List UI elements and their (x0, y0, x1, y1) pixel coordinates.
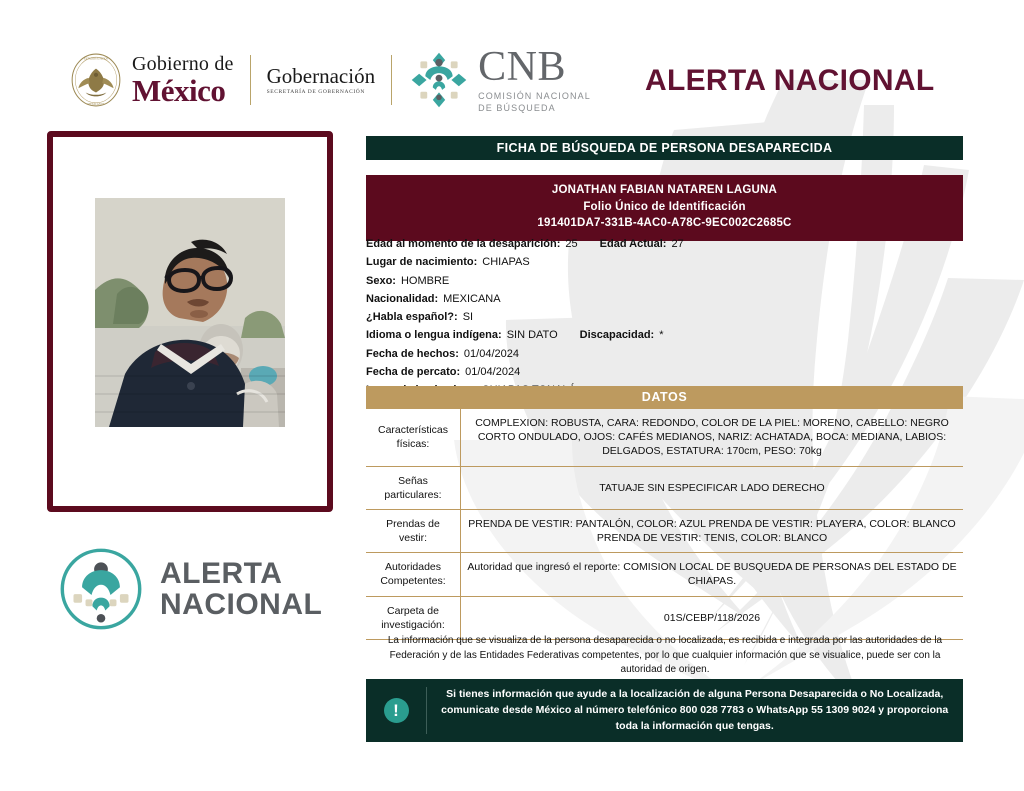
field-value: 01/04/2024 (465, 366, 520, 378)
contact-message: Si tienes información que ayude a la loc… (426, 687, 963, 734)
datos-row-label: Autoridades Competentes: (366, 553, 461, 596)
alerta-logo-line1: ALERTA (160, 558, 322, 590)
field-label: Idioma o lengua indígena: (366, 329, 502, 341)
person-field-row: Nacionalidad:MEXICANA (366, 293, 966, 307)
field-label: Nacionalidad: (366, 293, 438, 305)
gob-line2: México (132, 75, 234, 106)
gobernacion-subtitle: SECRETARÍA DE GOBERNACIÓN (267, 90, 375, 96)
field-label: Fecha de percato: (366, 366, 460, 378)
datos-row-label: Señas particulares: (366, 466, 461, 509)
field-value: 01/04/2024 (464, 348, 519, 360)
gob-line1: Gobierno de (132, 54, 234, 74)
photo-frame (47, 131, 333, 512)
field-value: SIN DATO (507, 329, 558, 341)
gobernacion-wordmark: Gobernación SECRETARÍA DE GOBERNACIÓN (267, 65, 375, 96)
svg-text:ESTADOS UNIDOS: ESTADOS UNIDOS (84, 56, 108, 60)
field-value-secondary: 27 (671, 238, 683, 250)
field-value: HOMBRE (401, 275, 449, 287)
mexican-coat-of-arms-icon: ESTADOS UNIDOS MEXICANOS (70, 52, 122, 108)
field-value-secondary: * (659, 329, 663, 341)
field-label-secondary: Edad Actual: (600, 238, 667, 250)
datos-section: DATOS Características físicas:COMPLEXION… (366, 386, 963, 640)
header-divider-1 (250, 55, 251, 105)
alerta-nacional-logo-text: ALERTA NACIONAL (160, 558, 322, 621)
folio-value: 191401DA7-331B-4AC0-A78C-9EC002C2685C (366, 215, 963, 232)
header-divider-2 (391, 55, 392, 105)
person-field-row: Fecha de percato:01/04/2024 (366, 366, 966, 380)
cnb-acronym: CNB (478, 46, 591, 88)
person-field-row: Edad al momento de la desaparición:25Eda… (366, 238, 966, 252)
datos-row: Prendas de vestir:PRENDA DE VESTIR: PANT… (366, 509, 963, 552)
datos-row-value: 01S/CEBP/118/2026 (461, 596, 964, 639)
alert-sheet: ESTADOS UNIDOS MEXICANOS Gobierno de Méx… (0, 0, 1024, 791)
field-value: 25 (565, 238, 577, 250)
cnb-fullname-line2: DE BÚSQUEDA (478, 103, 556, 113)
datos-row-value: TATUAJE SIN ESPECIFICAR LADO DERECHO (461, 466, 964, 509)
person-field-row: Sexo:HOMBRE (366, 275, 966, 289)
disclaimer-text: La información que se visualiza de la pe… (372, 634, 958, 678)
gobierno-de-mexico-wordmark: Gobierno de México (132, 54, 234, 106)
alerta-logo-line2: NACIONAL (160, 589, 322, 621)
datos-row-label: Prendas de vestir: (366, 509, 461, 552)
datos-row: Características físicas:COMPLEXION: ROBU… (366, 409, 963, 466)
datos-header: DATOS (366, 386, 963, 409)
datos-row-value: Autoridad que ingresó el reporte: COMISI… (461, 553, 964, 596)
alerta-nacional-badge-icon (58, 546, 144, 632)
datos-table: Características físicas:COMPLEXION: ROBU… (366, 409, 963, 640)
field-label-secondary: Discapacidad: (580, 329, 655, 341)
cnb-emblem-icon (408, 49, 470, 111)
person-fields: Edad al momento de la desaparición:25Eda… (366, 238, 966, 402)
header-logo-group: ESTADOS UNIDOS MEXICANOS Gobierno de Méx… (70, 44, 591, 116)
cnb-text-block: CNB COMISIÓN NACIONAL DE BÚSQUEDA (478, 46, 591, 114)
datos-row: Carpeta de investigación:01S/CEBP/118/20… (366, 596, 963, 639)
person-name: JONATHAN FABIAN NATAREN LAGUNA (366, 182, 963, 199)
cnb-fullname-line1: COMISIÓN NACIONAL (478, 91, 591, 101)
datos-row-label: Carpeta de investigación: (366, 596, 461, 639)
person-field-row: Lugar de nacimiento:CHIAPAS (366, 256, 966, 270)
datos-row-label: Características físicas: (366, 409, 461, 466)
exclamation-icon-wrap: ! (366, 698, 426, 723)
person-field-row: Fecha de hechos:01/04/2024 (366, 348, 966, 362)
contact-banner: ! Si tienes información que ayude a la l… (366, 679, 963, 742)
folio-label: Folio Único de Identificación (366, 199, 963, 216)
person-field-row: ¿Habla español?:SI (366, 311, 966, 325)
cnb-fullname: COMISIÓN NACIONAL DE BÚSQUEDA (478, 91, 591, 114)
field-label: Lugar de nacimiento: (366, 256, 477, 268)
field-value: SI (463, 311, 473, 323)
cnb-logo-group: CNB COMISIÓN NACIONAL DE BÚSQUEDA (408, 46, 591, 114)
datos-row-value: PRENDA DE VESTIR: PANTALÓN, COLOR: AZUL … (461, 509, 964, 552)
exclamation-icon: ! (384, 698, 409, 723)
field-label: Fecha de hechos: (366, 348, 459, 360)
field-value: MEXICANA (443, 293, 500, 305)
field-label: Edad al momento de la desaparición: (366, 238, 560, 250)
svg-text:MEXICANOS: MEXICANOS (88, 102, 105, 106)
ficha-banner: FICHA DE BÚSQUEDA DE PERSONA DESAPARECID… (366, 136, 963, 160)
alerta-nacional-logo: ALERTA NACIONAL (58, 546, 322, 632)
person-field-row: Idioma o lengua indígena:SIN DATODiscapa… (366, 329, 966, 343)
page-title: ALERTA NACIONAL (645, 64, 934, 98)
gobernacion-title: Gobernación (267, 65, 375, 87)
field-label: Sexo: (366, 275, 396, 287)
field-value: CHIAPAS (482, 256, 529, 268)
datos-row: Autoridades Competentes:Autoridad que in… (366, 553, 963, 596)
datos-row-value: COMPLEXION: ROBUSTA, CARA: REDONDO, COLO… (461, 409, 964, 466)
field-label: ¿Habla español?: (366, 311, 458, 323)
missing-person-photo (95, 198, 285, 427)
datos-row: Señas particulares:TATUAJE SIN ESPECIFIC… (366, 466, 963, 509)
person-name-band: JONATHAN FABIAN NATAREN LAGUNA Folio Úni… (366, 175, 963, 241)
